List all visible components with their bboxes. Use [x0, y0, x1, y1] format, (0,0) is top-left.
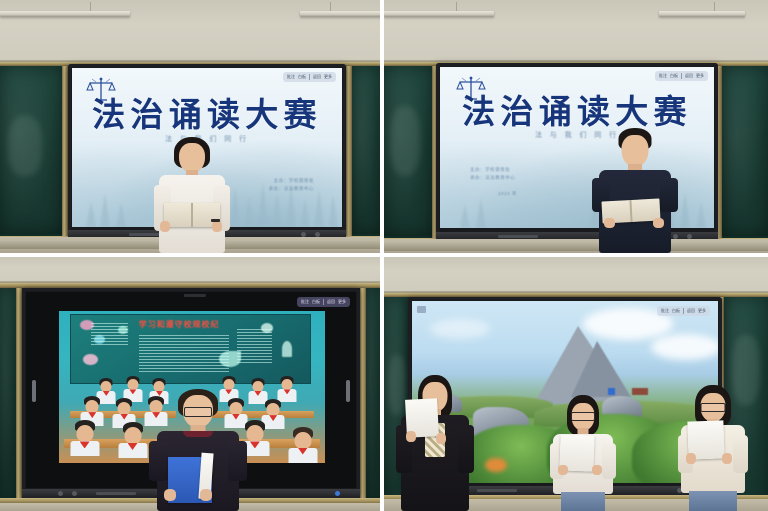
screen-handle-right[interactable] [346, 380, 350, 402]
presenter-top-left [150, 137, 234, 253]
toolbar-item-whiteboard[interactable]: 白板 [298, 74, 306, 80]
hand-left [160, 221, 170, 232]
power-button[interactable] [58, 491, 63, 496]
face [179, 143, 205, 173]
hand-left [686, 453, 696, 464]
toolbar-item-whiteboard[interactable]: 白板 [672, 308, 680, 314]
slide-organizer-line1: 主办：学校德育处 [274, 178, 314, 185]
board-frame [360, 283, 366, 511]
screen-toolbar[interactable]: 批注 白板 返回 更多 [283, 72, 336, 82]
chalkboard-left [384, 66, 432, 236]
hand-left [558, 465, 568, 475]
hand-right [722, 453, 732, 464]
ceiling [0, 257, 380, 283]
presenter-bottom-right-left [396, 375, 474, 511]
arm-left [149, 441, 168, 481]
toolbar-item-back[interactable]: 返回 [687, 308, 695, 314]
toolbar-separator [681, 73, 682, 79]
toolbar-separator [323, 299, 324, 305]
screen-badge-icon[interactable] [417, 306, 426, 313]
toolbar-separator [683, 308, 684, 314]
board-ledge [384, 243, 768, 251]
presenter-bottom-right-right [676, 385, 750, 511]
chalkboard-left [0, 66, 62, 234]
toolbar-separator [309, 74, 310, 80]
slide-title: 法治诵读大赛 [440, 85, 714, 133]
toolbar-item-more[interactable]: 更多 [696, 73, 704, 79]
pupil [288, 427, 318, 463]
hand-left [406, 431, 416, 442]
toolbar-item-back[interactable]: 返回 [313, 74, 321, 80]
chalkboard-right [352, 66, 380, 234]
presenter-top-right [590, 128, 680, 253]
toolbar-item-annotate[interactable]: 批注 [301, 299, 309, 305]
toolbar-item-annotate[interactable]: 批注 [659, 73, 667, 79]
collage-pane-top-left: 法治诵读大赛 法 与 我 们 同 行 主办：学校德育处 承办：法治教育中心 批注… [0, 0, 380, 253]
ceiling [384, 257, 768, 293]
toolbar-item-whiteboard[interactable]: 白板 [670, 73, 678, 79]
toolbar-item-more[interactable]: 更多 [698, 308, 706, 314]
hand-right [200, 489, 212, 501]
toolbar-item-back[interactable]: 返回 [327, 299, 335, 305]
pupil [70, 420, 100, 456]
arm-right [602, 443, 616, 479]
hand-right [212, 221, 222, 232]
toolbar-item-whiteboard[interactable]: 白板 [312, 299, 320, 305]
jeans [689, 491, 737, 511]
chalkboard-right [366, 287, 380, 507]
classroom-board-title: 学习和遵守校规校纪 [139, 319, 220, 330]
ceiling-light-icon [659, 11, 745, 17]
ceiling-light-icon [300, 11, 380, 17]
collage-pane-top-right: 法治诵读大赛 法 与 我 们 同 行 主办：学校德育处 承办：法治教育中心 20… [384, 0, 768, 253]
light-rod [456, 2, 457, 11]
ceiling-light-icon [0, 11, 130, 17]
collage-pane-bottom-right: 批注 白板 返回 更多 [384, 257, 768, 511]
board-frame [346, 62, 352, 240]
brand-logo [477, 489, 517, 492]
toolbar-item-more[interactable]: 更多 [324, 74, 332, 80]
slide-organizer-line1: 主办：学校德育处 [470, 167, 510, 174]
ceiling-light-icon [384, 11, 494, 17]
screen-toolbar[interactable]: 批注 白板 返回 更多 [655, 71, 708, 81]
toolbar-item-annotate[interactable]: 批注 [661, 308, 669, 314]
toolbar-item-back[interactable]: 返回 [685, 73, 693, 79]
light-rod [330, 2, 331, 11]
light-rod [90, 2, 91, 11]
slide-organizer-line2: 承办：法治教育中心 [269, 186, 314, 193]
camera-bar [184, 294, 206, 297]
hand-right [592, 465, 602, 475]
hand-left [164, 489, 176, 501]
arm-right [228, 441, 247, 481]
chalkboard-left [0, 287, 16, 507]
ceiling [384, 0, 768, 62]
pupil [118, 422, 148, 458]
glasses [571, 412, 595, 421]
book-spine [629, 200, 632, 222]
light-rod [714, 2, 715, 11]
screen-handle-left[interactable] [32, 380, 36, 402]
toolbar-item-annotate[interactable]: 批注 [287, 74, 295, 80]
arm-right [458, 425, 474, 473]
collage-pane-bottom-left: 学习和遵守校规校纪 [0, 257, 380, 511]
toolbar-item-more[interactable]: 更多 [338, 299, 346, 305]
slide-organizer-line3: 2024 年 [498, 191, 517, 198]
jeans [561, 492, 605, 511]
screen-toolbar[interactable]: 批注 白板 返回 更多 [297, 297, 350, 307]
presenter-bottom-left [148, 389, 248, 511]
arm-right [733, 435, 748, 473]
slide-organizer-line2: 承办：法治教育中心 [470, 175, 515, 182]
presenter-bottom-right-center [548, 395, 618, 511]
chalkboard-right [722, 66, 768, 236]
ceiling [0, 0, 380, 62]
status-led [335, 491, 340, 496]
photo-collage: 法治诵读大赛 法 与 我 们 同 行 主办：学校德育处 承办：法治教育中心 批注… [0, 0, 768, 511]
brand-logo [96, 492, 136, 495]
brand-logo [498, 235, 538, 238]
hand-left [604, 218, 615, 228]
wristwatch [211, 219, 220, 222]
collar [183, 431, 213, 437]
hand-right [436, 433, 446, 444]
screen-toolbar[interactable]: 批注 白板 返回 更多 [657, 306, 710, 316]
slide-title: 法治诵读大赛 [72, 88, 342, 136]
menu-button[interactable] [72, 491, 77, 496]
face [622, 135, 649, 167]
arm-right [660, 178, 678, 212]
book-spine [191, 203, 193, 227]
glasses [184, 407, 212, 417]
glasses [701, 403, 726, 412]
hand-right [653, 218, 664, 228]
